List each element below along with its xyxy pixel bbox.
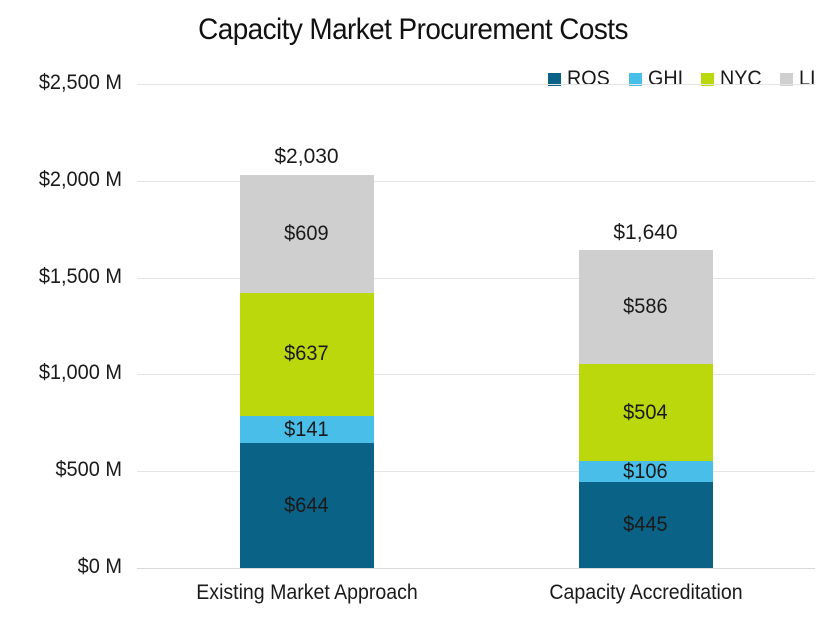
bar-2[interactable]: $445$106$504$586$1,640: [579, 251, 713, 569]
x-axis: Existing Market ApproachCapacity Accredi…: [137, 578, 815, 618]
y-axis: $2,500 M$2,000 M$1,500 M$1,000 M$500 M$0…: [0, 84, 122, 568]
bar-segment-li[interactable]: $609: [240, 175, 374, 293]
bar-segment-ghi[interactable]: $141: [240, 416, 374, 443]
bar-segment-value-label: $644: [284, 494, 328, 518]
chart-title: Capacity Market Procurement Costs: [29, 11, 797, 49]
y-axis-tick-label: $2,000 M: [8, 168, 122, 192]
bar-segment-value-label: $637: [284, 342, 328, 366]
bar-total-label: $2,030: [220, 145, 394, 169]
y-axis-tick-label: $0 M: [8, 555, 122, 579]
y-axis-tick-label: $2,500 M: [8, 71, 122, 95]
x-axis-category-label: Existing Market Approach: [148, 578, 464, 608]
bar-segment-ghi[interactable]: $106: [579, 461, 713, 482]
plot-area: $644$141$637$609$2,030$445$106$504$586$1…: [137, 84, 815, 568]
bar-total-label: $1,640: [559, 221, 733, 245]
bar-segment-ros[interactable]: $445: [579, 482, 713, 568]
gridline: [137, 568, 815, 569]
chart-container: Capacity Market Procurement Costs ROSGHI…: [0, 0, 826, 620]
y-axis-tick-label: $1,500 M: [8, 265, 122, 289]
bar-segment-nyc[interactable]: $504: [579, 364, 713, 462]
bar-segment-ros[interactable]: $644: [240, 443, 374, 568]
bar-segment-value-label: $586: [623, 295, 667, 319]
bar-segment-li[interactable]: $586: [579, 250, 713, 363]
gridline: [137, 84, 815, 85]
bar-segment-value-label: $141: [284, 418, 328, 442]
y-axis-tick-label: $500 M: [8, 458, 122, 482]
bar-segment-nyc[interactable]: $637: [240, 293, 374, 416]
x-axis-category-label: Capacity Accreditation: [487, 578, 803, 608]
bar-1[interactable]: $644$141$637$609$2,030: [240, 175, 374, 568]
bar-segment-value-label: $609: [284, 222, 328, 246]
bar-segment-value-label: $106: [623, 460, 667, 484]
bar-segment-value-label: $504: [623, 401, 667, 425]
y-axis-tick-label: $1,000 M: [8, 361, 122, 385]
bar-segment-value-label: $445: [623, 513, 667, 537]
